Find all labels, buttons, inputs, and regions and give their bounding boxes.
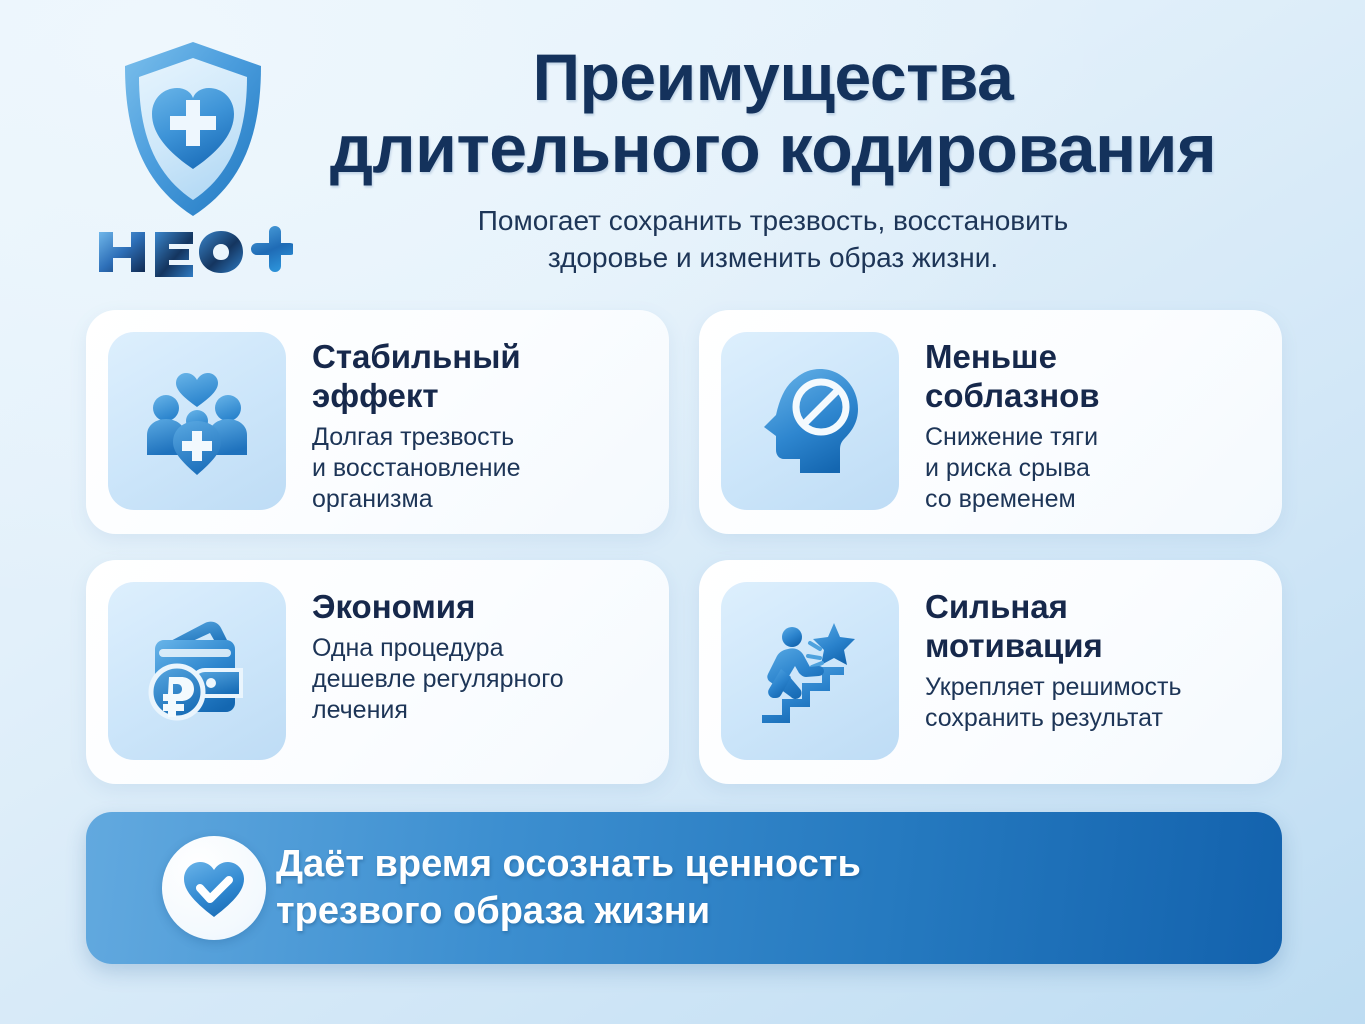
- icon-tile: [108, 332, 286, 510]
- card-title: Меньше соблазнов: [925, 338, 1262, 416]
- card-desc-line-3: лечения: [312, 695, 649, 726]
- card-desc-line-1: Долгая трезвость: [312, 422, 649, 453]
- family-heart-plus-icon: [135, 359, 259, 483]
- card-text: Стабильный эффект Долгая трезвость и вос…: [286, 332, 649, 516]
- card-desc-line-2: и восстановление: [312, 453, 649, 484]
- card-desc-line-2: и риска срыва: [925, 453, 1262, 484]
- card-description: Одна процедура дешевле регулярного лечен…: [312, 633, 649, 727]
- card-title-line-1: Сильная: [925, 588, 1068, 625]
- benefit-card-fewer-temptations: Меньше соблазнов Снижение тяги и риска с…: [699, 310, 1282, 534]
- title-block: Преимущества длительного кодирования Пом…: [268, 42, 1278, 305]
- benefits-grid: Стабильный эффект Долгая трезвость и вос…: [86, 310, 1282, 784]
- card-title-line-1: Меньше: [925, 338, 1057, 375]
- banner-line-2: трезвого образа жизни: [276, 888, 861, 935]
- footer-banner: Даёт время осознать ценность трезвого об…: [86, 812, 1282, 964]
- banner-text: Даёт время осознать ценность трезвого об…: [276, 841, 861, 935]
- icon-tile: [721, 582, 899, 760]
- card-desc-line-2: дешевле регулярного: [312, 664, 649, 695]
- card-title-line-2: эффект: [312, 377, 439, 414]
- badge-circle: [162, 836, 266, 940]
- card-text: Экономия Одна процедура дешевле регулярн…: [286, 582, 649, 727]
- card-title-line-1: Экономия: [312, 588, 475, 625]
- card-title-line-2: мотивация: [925, 627, 1103, 664]
- icon-tile: [108, 582, 286, 760]
- brand-wordmark: [93, 224, 293, 280]
- title-line-2: длительного кодирования: [268, 113, 1278, 186]
- benefit-card-motivation: Сильная мотивация Укрепляет решимость со…: [699, 560, 1282, 784]
- header: Преимущества длительного кодирования Пом…: [0, 0, 1365, 300]
- head-no-entry-icon: [748, 359, 872, 483]
- subtitle-line-1: Помогает сохранить трезвость, восстанови…: [268, 203, 1278, 240]
- infographic-poster: Преимущества длительного кодирования Пом…: [0, 0, 1365, 1024]
- card-desc-line-1: Одна процедура: [312, 633, 649, 664]
- page-title: Преимущества длительного кодирования: [268, 42, 1278, 187]
- card-description: Снижение тяги и риска срыва со временем: [925, 422, 1262, 516]
- card-title: Экономия: [312, 588, 649, 627]
- icon-tile: [721, 332, 899, 510]
- card-desc-line-2: сохранить результат: [925, 703, 1262, 734]
- banner-line-1: Даёт время осознать ценность: [276, 841, 861, 888]
- shield-heart-plus-icon: [117, 38, 269, 220]
- page-subtitle: Помогает сохранить трезвость, восстанови…: [268, 203, 1278, 277]
- heart-check-badge-icon: [181, 855, 247, 921]
- card-text: Сильная мотивация Укрепляет решимость со…: [899, 582, 1262, 734]
- wallet-ruble-icon: [135, 609, 259, 733]
- person-stairs-star-icon: [748, 609, 872, 733]
- title-line-1: Преимущества: [268, 42, 1278, 113]
- card-description: Укрепляет решимость сохранить результат: [925, 672, 1262, 735]
- card-text: Меньше соблазнов Снижение тяги и риска с…: [899, 332, 1262, 516]
- card-desc-line-3: со временем: [925, 484, 1262, 515]
- card-description: Долгая трезвость и восстановление органи…: [312, 422, 649, 516]
- card-title: Стабильный эффект: [312, 338, 649, 416]
- card-title-line-1: Стабильный: [312, 338, 521, 375]
- card-title: Сильная мотивация: [925, 588, 1262, 666]
- card-desc-line-1: Укрепляет решимость: [925, 672, 1262, 703]
- benefit-card-savings: Экономия Одна процедура дешевле регулярн…: [86, 560, 669, 784]
- benefit-card-stable-effect: Стабильный эффект Долгая трезвость и вос…: [86, 310, 669, 534]
- card-title-line-2: соблазнов: [925, 377, 1100, 414]
- subtitle-line-2: здоровье и изменить образ жизни.: [268, 240, 1278, 277]
- card-desc-line-3: организма: [312, 484, 649, 515]
- card-desc-line-1: Снижение тяги: [925, 422, 1262, 453]
